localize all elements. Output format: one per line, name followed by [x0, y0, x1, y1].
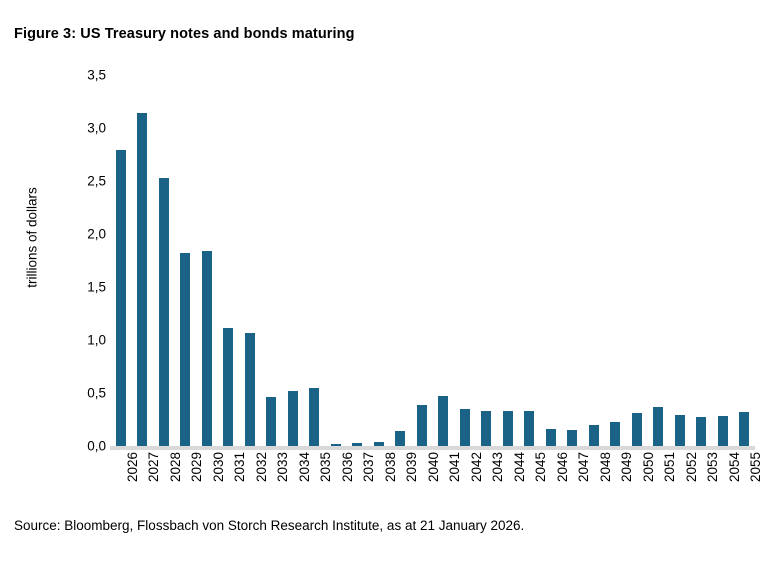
x-slot: 2048 — [583, 452, 605, 512]
y-axis-tick-label: 2,5 — [87, 174, 106, 188]
x-slot: 2052 — [669, 452, 691, 512]
bar[interactable] — [503, 411, 513, 446]
bar[interactable] — [739, 412, 749, 446]
x-slot: 2054 — [712, 452, 734, 512]
y-axis-title: trillions of dollars — [25, 168, 40, 308]
bar-slot — [153, 75, 175, 446]
bar[interactable] — [417, 405, 427, 446]
bar-slot — [605, 75, 627, 446]
bar-series — [110, 75, 755, 446]
y-axis-tick-label: 3,5 — [87, 68, 106, 82]
x-slot: 2041 — [433, 452, 455, 512]
page-title: Figure 3: US Treasury notes and bonds ma… — [14, 26, 355, 42]
bar-slot — [519, 75, 541, 446]
bar-slot — [218, 75, 240, 446]
bar-slot — [175, 75, 197, 446]
bar[interactable] — [223, 328, 233, 446]
bar[interactable] — [395, 431, 405, 446]
bar-slot — [132, 75, 154, 446]
x-axis-tick-label: 2055 — [749, 452, 763, 482]
bar[interactable] — [653, 407, 663, 446]
bar[interactable] — [675, 415, 685, 446]
y-axis-tick-label: 1,5 — [87, 280, 106, 294]
x-slot: 2035 — [304, 452, 326, 512]
bar-slot — [110, 75, 132, 446]
bar-slot — [368, 75, 390, 446]
x-slot: 2042 — [454, 452, 476, 512]
bar-slot — [669, 75, 691, 446]
bar-slot — [583, 75, 605, 446]
x-slot: 2053 — [691, 452, 713, 512]
y-axis-tick-label: 3,0 — [87, 121, 106, 135]
y-axis-tick-labels: 3,53,02,52,01,51,00,50,0 — [72, 60, 106, 446]
x-slot: 2043 — [476, 452, 498, 512]
bar-slot — [626, 75, 648, 446]
bar-slot — [454, 75, 476, 446]
bar[interactable] — [266, 397, 276, 446]
bar[interactable] — [460, 409, 470, 446]
y-axis-tick-label: 1,0 — [87, 333, 106, 347]
y-axis-tick-label: 2,0 — [87, 227, 106, 241]
bar[interactable] — [546, 429, 556, 446]
bar[interactable] — [309, 388, 319, 446]
x-slot: 2055 — [734, 452, 756, 512]
x-slot: 2029 — [175, 452, 197, 512]
bar[interactable] — [245, 333, 255, 446]
bar-slot — [304, 75, 326, 446]
bar[interactable] — [610, 422, 620, 446]
x-slot: 2051 — [648, 452, 670, 512]
x-slot: 2030 — [196, 452, 218, 512]
bar-chart: trillions of dollars 3,53,02,52,01,51,00… — [0, 60, 771, 510]
x-slot: 2045 — [519, 452, 541, 512]
bar-slot — [497, 75, 519, 446]
bar-slot — [282, 75, 304, 446]
bar[interactable] — [116, 150, 126, 446]
x-slot: 2027 — [132, 452, 154, 512]
x-slot: 2046 — [540, 452, 562, 512]
bar[interactable] — [589, 425, 599, 446]
bar[interactable] — [632, 413, 642, 446]
bar-slot — [540, 75, 562, 446]
bar[interactable] — [481, 411, 491, 446]
x-slot: 2037 — [347, 452, 369, 512]
x-slot: 2033 — [261, 452, 283, 512]
bar[interactable] — [180, 253, 190, 446]
bar-slot — [390, 75, 412, 446]
bar[interactable] — [137, 113, 147, 446]
x-axis-tick-labels: 2026202720282029203020312032203320342035… — [110, 452, 755, 512]
bar[interactable] — [524, 411, 534, 446]
bar-slot — [433, 75, 455, 446]
bar-slot — [347, 75, 369, 446]
x-slot: 2047 — [562, 452, 584, 512]
bar-slot — [261, 75, 283, 446]
x-slot: 2038 — [368, 452, 390, 512]
y-axis-tick-label: 0,0 — [87, 439, 106, 453]
bar-slot — [648, 75, 670, 446]
bar-slot — [325, 75, 347, 446]
x-slot: 2028 — [153, 452, 175, 512]
source-note: Source: Bloomberg, Flossbach von Storch … — [14, 518, 524, 533]
x-slot: 2036 — [325, 452, 347, 512]
bar-slot — [691, 75, 713, 446]
x-slot: 2044 — [497, 452, 519, 512]
bar[interactable] — [438, 396, 448, 446]
x-slot: 2031 — [218, 452, 240, 512]
bar[interactable] — [696, 417, 706, 446]
x-slot: 2032 — [239, 452, 261, 512]
bar[interactable] — [718, 416, 728, 446]
bar[interactable] — [288, 391, 298, 446]
x-slot: 2049 — [605, 452, 627, 512]
bar-slot — [476, 75, 498, 446]
bar-slot — [239, 75, 261, 446]
x-slot: 2050 — [626, 452, 648, 512]
bar-slot — [562, 75, 584, 446]
bar-slot — [196, 75, 218, 446]
bar[interactable] — [159, 178, 169, 446]
x-slot: 2040 — [411, 452, 433, 512]
plot-area — [110, 75, 755, 446]
bar[interactable] — [202, 251, 212, 446]
x-slot: 2026 — [110, 452, 132, 512]
bar-slot — [411, 75, 433, 446]
bar-slot — [734, 75, 756, 446]
x-slot: 2039 — [390, 452, 412, 512]
x-axis-baseline — [110, 446, 755, 450]
bar-slot — [712, 75, 734, 446]
x-slot: 2034 — [282, 452, 304, 512]
bar[interactable] — [567, 430, 577, 446]
y-axis-tick-label: 0,5 — [87, 386, 106, 400]
